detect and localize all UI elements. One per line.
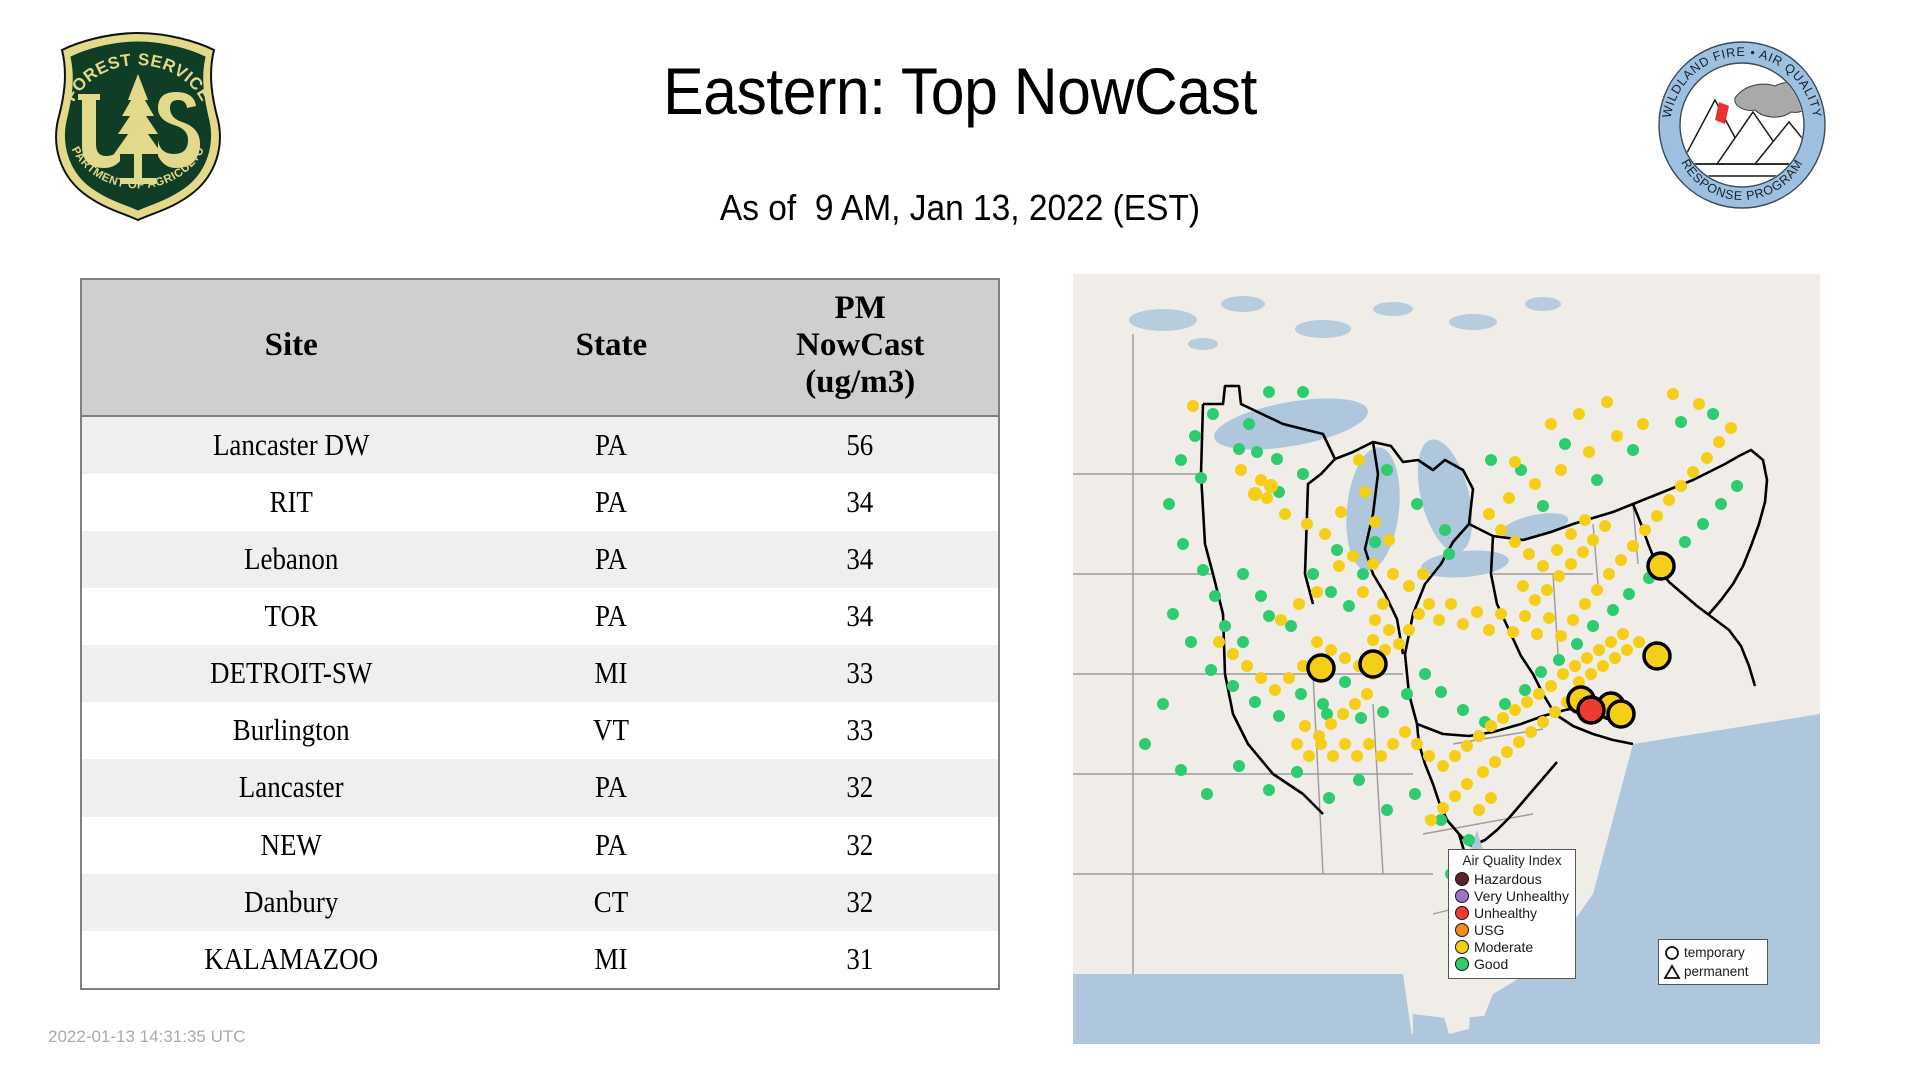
aqi-legend-label: Unhealthy bbox=[1474, 905, 1537, 922]
air-quality-map[interactable] bbox=[1073, 274, 1820, 1044]
column-header-site: Site bbox=[82, 280, 500, 416]
cell-site: Burlington bbox=[109, 702, 473, 759]
cell-state: PA bbox=[515, 531, 708, 588]
table-row[interactable]: BurlingtonVT33 bbox=[82, 702, 998, 759]
top-site-marker-tor bbox=[1608, 701, 1634, 727]
aqi-legend-title: Air Quality Index bbox=[1455, 854, 1569, 868]
cell-pm-nowcast: 32 bbox=[740, 874, 980, 931]
table-row[interactable]: DanburyCT32 bbox=[82, 874, 998, 931]
aqi-swatch-icon bbox=[1455, 872, 1469, 886]
temporary-circle-icon bbox=[1663, 944, 1681, 962]
cell-site: TOR bbox=[109, 588, 473, 645]
cell-site: Lancaster DW bbox=[109, 416, 473, 474]
cell-state: PA bbox=[515, 759, 708, 816]
gulf-of-mexico bbox=[1073, 974, 1413, 1044]
cell-site: DETROIT-SW bbox=[109, 645, 473, 702]
table-row[interactable]: LancasterPA32 bbox=[82, 759, 998, 816]
aqi-legend-row: Unhealthy bbox=[1455, 905, 1569, 922]
aqi-swatch-icon bbox=[1455, 923, 1469, 937]
cell-state: VT bbox=[515, 702, 708, 759]
table-row[interactable]: LebanonPA34 bbox=[82, 531, 998, 588]
top-site-marker-danbury bbox=[1644, 643, 1670, 669]
pm-header-line-3: (ug/m3) bbox=[805, 364, 915, 400]
table-row[interactable]: TORPA34 bbox=[82, 588, 998, 645]
table-row[interactable]: RITPA34 bbox=[82, 474, 998, 531]
cell-site: Danbury bbox=[109, 874, 473, 931]
cell-state: CT bbox=[515, 874, 708, 931]
cell-pm-nowcast: 33 bbox=[740, 645, 980, 702]
aqi-legend-row: Very Unhealthy bbox=[1455, 888, 1569, 905]
aqi-legend-label: Good bbox=[1474, 956, 1508, 973]
table-row[interactable]: Lancaster DWPA56 bbox=[82, 416, 998, 474]
cell-state: MI bbox=[515, 645, 708, 702]
usfs-shield-logo: FOREST SERVICE DEPARTMENT OF AGRICULTURE bbox=[48, 28, 228, 224]
table-header-row: Site State PM NowCast (ug/m3) bbox=[82, 280, 998, 416]
legend-label-permanent: permanent bbox=[1684, 964, 1749, 979]
cell-pm-nowcast: 56 bbox=[740, 416, 980, 474]
aqi-legend-label: Very Unhealthy bbox=[1474, 888, 1569, 905]
page-title: Eastern: Top NowCast bbox=[353, 58, 1567, 124]
map-canvas bbox=[1073, 274, 1820, 1044]
cell-pm-nowcast: 34 bbox=[740, 588, 980, 645]
aqi-legend-label: Moderate bbox=[1474, 939, 1533, 956]
aqi-swatch-icon bbox=[1455, 889, 1469, 903]
cell-pm-nowcast: 33 bbox=[740, 702, 980, 759]
cell-site: KALAMAZOO bbox=[109, 931, 473, 988]
page-subtitle: As of 9 AM, Jan 13, 2022 (EST) bbox=[346, 190, 1574, 226]
pm-header-line-2: NowCast bbox=[796, 327, 924, 363]
site-type-legend: temporary permanent bbox=[1658, 939, 1768, 985]
top-site-marker-kalamazoo bbox=[1308, 655, 1334, 681]
aqi-legend-row: Moderate bbox=[1455, 939, 1569, 956]
top-nowcast-table: Site State PM NowCast (ug/m3) Lancaster … bbox=[80, 278, 1000, 990]
aqi-legend-row: USG bbox=[1455, 922, 1569, 939]
cell-state: PA bbox=[515, 416, 708, 474]
cell-pm-nowcast: 32 bbox=[740, 817, 980, 874]
table-row[interactable]: KALAMAZOOMI31 bbox=[82, 931, 998, 988]
cell-pm-nowcast: 34 bbox=[740, 474, 980, 531]
aqi-swatch-icon bbox=[1455, 906, 1469, 920]
cell-site: Lebanon bbox=[109, 531, 473, 588]
permanent-triangle-icon bbox=[1663, 963, 1681, 981]
legend-row-permanent: permanent bbox=[1663, 962, 1763, 981]
aqi-swatch-icon bbox=[1455, 957, 1469, 971]
table-row[interactable]: DETROIT-SWMI33 bbox=[82, 645, 998, 702]
cell-pm-nowcast: 34 bbox=[740, 531, 980, 588]
pm-header-line-1: PM bbox=[835, 290, 886, 326]
wildland-fire-air-quality-logo: WILDLAND FIRE • AIR QUALITY RESPONSE PRO… bbox=[1657, 40, 1827, 210]
aqi-legend-label: USG bbox=[1474, 922, 1504, 939]
aqi-legend-row: Hazardous bbox=[1455, 871, 1569, 888]
footer-timestamp: 2022-01-13 14:31:35 UTC bbox=[48, 1027, 246, 1047]
cell-state: PA bbox=[515, 474, 708, 531]
cell-state: PA bbox=[515, 817, 708, 874]
cell-pm-nowcast: 32 bbox=[740, 759, 980, 816]
cell-state: PA bbox=[515, 588, 708, 645]
aqi-swatch-icon bbox=[1455, 940, 1469, 954]
top-site-marker-detroit-sw bbox=[1360, 651, 1386, 677]
legend-label-temporary: temporary bbox=[1684, 945, 1745, 960]
table-row[interactable]: NEWPA32 bbox=[82, 817, 998, 874]
column-header-state: State bbox=[500, 280, 722, 416]
top-site-marker-burlington bbox=[1648, 553, 1674, 579]
cell-state: MI bbox=[515, 931, 708, 988]
aqi-legend-row: Good bbox=[1455, 956, 1569, 973]
cell-site: Lancaster bbox=[109, 759, 473, 816]
cell-site: RIT bbox=[109, 474, 473, 531]
column-header-pm-nowcast: PM NowCast (ug/m3) bbox=[722, 280, 998, 416]
top-site-marker-lancaster-dw bbox=[1578, 697, 1604, 723]
cell-pm-nowcast: 31 bbox=[740, 931, 980, 988]
cell-site: NEW bbox=[109, 817, 473, 874]
legend-row-temporary: temporary bbox=[1663, 943, 1763, 962]
aqi-legend: Air Quality Index HazardousVery Unhealth… bbox=[1448, 849, 1576, 979]
aqi-legend-label: Hazardous bbox=[1474, 871, 1542, 888]
